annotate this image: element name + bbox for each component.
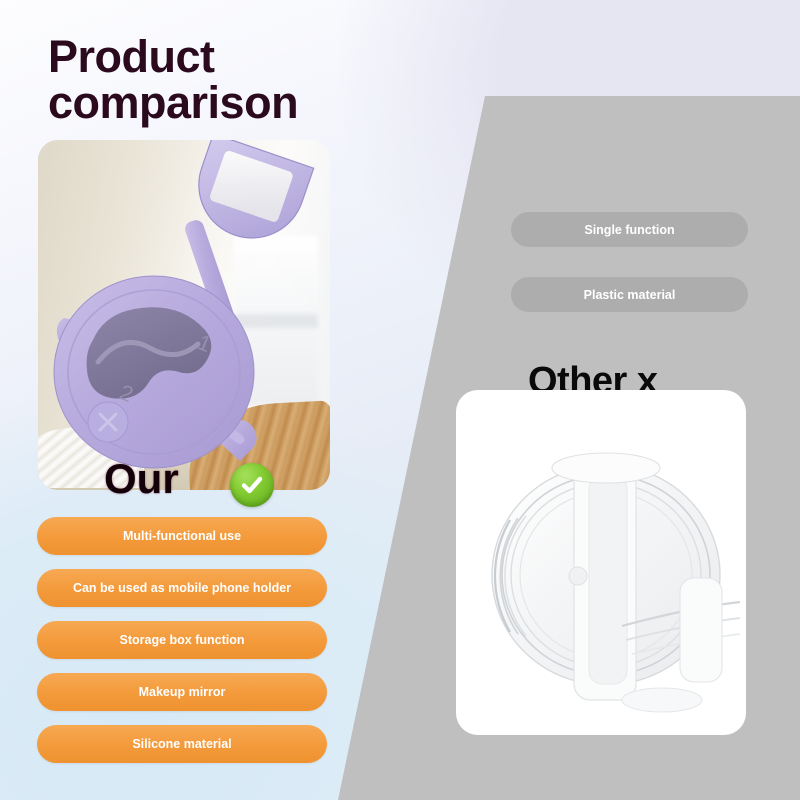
product-comparison-infographic: Product comparison [0, 0, 800, 800]
other-feature-pill[interactable]: Plastic material [511, 277, 748, 312]
our-feature-list: Multi-functional use Can be used as mobi… [37, 517, 327, 777]
our-feature-pill[interactable]: Can be used as mobile phone holder [37, 569, 327, 607]
check-circle-icon [230, 463, 274, 507]
our-feature-pill[interactable]: Multi-functional use [37, 517, 327, 555]
our-label: Our [104, 455, 179, 503]
purple-lid-illustration: 1 2 [38, 140, 330, 490]
our-feature-pill[interactable]: Silicone material [37, 725, 327, 763]
clear-lid-illustration [456, 390, 746, 735]
our-product-photo: 1 2 [38, 140, 330, 490]
our-feature-pill[interactable]: Makeup mirror [37, 673, 327, 711]
other-product-photo [456, 390, 746, 735]
our-feature-pill[interactable]: Storage box function [37, 621, 327, 659]
other-feature-pill[interactable]: Single function [511, 212, 748, 247]
page-title: Product comparison [48, 34, 378, 126]
